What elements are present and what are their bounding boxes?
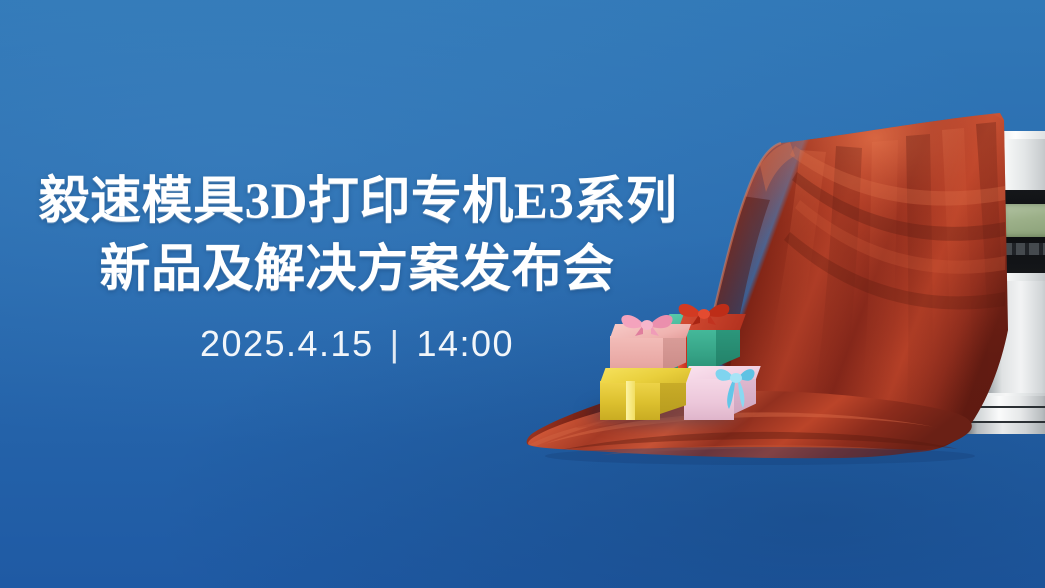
printer-base-slab bbox=[963, 423, 1045, 434]
printer-keypad bbox=[1003, 243, 1045, 255]
event-time: 14:00 bbox=[416, 323, 514, 364]
event-date: 2025.4.15 bbox=[200, 323, 374, 364]
gift-box-lavender bbox=[684, 366, 756, 420]
printer-base-slab bbox=[963, 408, 1045, 421]
headline-line-1: 毅速模具3D打印专机E3系列 bbox=[2, 176, 714, 228]
printer-top-cap bbox=[969, 131, 1045, 139]
printer-door bbox=[985, 281, 1045, 393]
event-banner: 毅速模具3D打印专机E3系列 新品及解决方案发布会 2025.4.15|14:0… bbox=[0, 0, 1045, 588]
box-ribbon-vertical bbox=[626, 381, 635, 420]
bow-blue-icon bbox=[712, 362, 758, 410]
printer-base-slab bbox=[963, 396, 1045, 406]
printer-base bbox=[963, 396, 1045, 433]
printer-lcd-screen bbox=[1003, 204, 1045, 237]
datetime-separator: | bbox=[374, 323, 417, 365]
box-top-face bbox=[600, 368, 691, 383]
text-block: 毅速模具3D打印专机E3系列 新品及解决方案发布会 2025.4.15|14:0… bbox=[0, 176, 714, 365]
gift-box-yellow bbox=[600, 368, 686, 420]
event-datetime: 2025.4.15|14:00 bbox=[0, 323, 714, 365]
headline-line-2: 新品及解决方案发布会 bbox=[0, 244, 714, 296]
3d-printer bbox=[963, 131, 1045, 433]
